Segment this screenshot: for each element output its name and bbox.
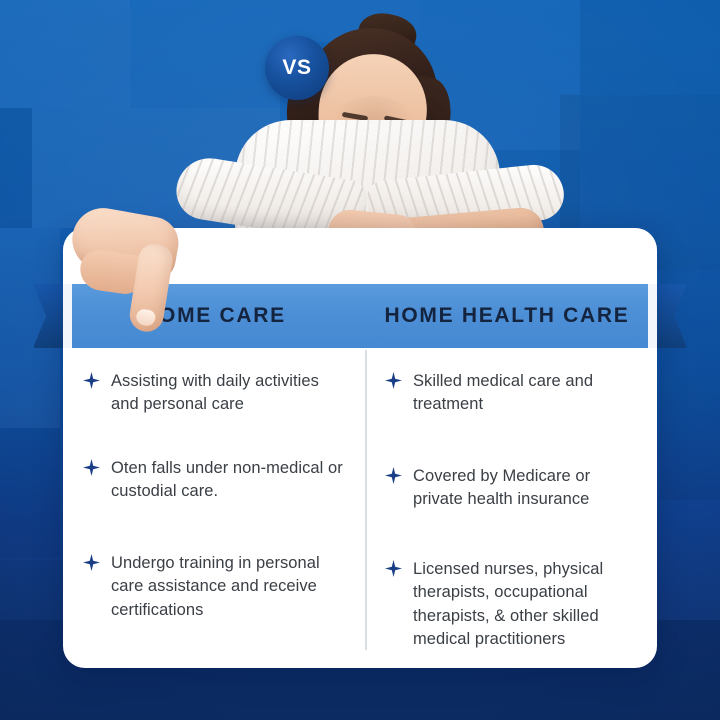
infographic-canvas: HOME CARE HOME HEALTH CARE Assisting wit… xyxy=(0,0,720,720)
column-home-health-care: Skilled medical care and treatment Cover… xyxy=(365,348,657,668)
comparison-columns: Assisting with daily activities and pers… xyxy=(63,348,657,668)
sparkle-diamond-icon xyxy=(83,372,100,394)
pointing-hand xyxy=(72,212,204,332)
list-item-label: Oten falls under non-medical or custodia… xyxy=(111,457,349,504)
column-title-home-health-care: HOME HEALTH CARE xyxy=(369,284,645,348)
list-item: Assisting with daily activities and pers… xyxy=(83,370,349,417)
sparkle-diamond-icon xyxy=(83,554,100,576)
versus-badge: VS xyxy=(265,36,329,100)
sparkle-diamond-icon xyxy=(385,560,402,582)
list-item: Oten falls under non-medical or custodia… xyxy=(83,457,349,504)
list-item: Covered by Medicare or private health in… xyxy=(385,465,641,512)
list-item: Skilled medical care and treatment xyxy=(385,370,641,417)
list-item-label: Undergo training in personal care assist… xyxy=(111,552,349,622)
list-item-label: Licensed nurses, physical therapists, oc… xyxy=(413,558,641,652)
ribbon-notch-left xyxy=(63,284,72,348)
column-home-care: Assisting with daily activities and pers… xyxy=(63,348,365,668)
list-item-label: Covered by Medicare or private health in… xyxy=(413,465,641,512)
list-item-label: Assisting with daily activities and pers… xyxy=(111,370,349,417)
sparkle-diamond-icon xyxy=(385,467,402,489)
list-item: Licensed nurses, physical therapists, oc… xyxy=(385,558,641,652)
ribbon-notch-right xyxy=(648,284,657,348)
sparkle-diamond-icon xyxy=(385,372,402,394)
sparkle-diamond-icon xyxy=(83,459,100,481)
list-item-label: Skilled medical care and treatment xyxy=(413,370,641,417)
list-item: Undergo training in personal care assist… xyxy=(83,552,349,622)
